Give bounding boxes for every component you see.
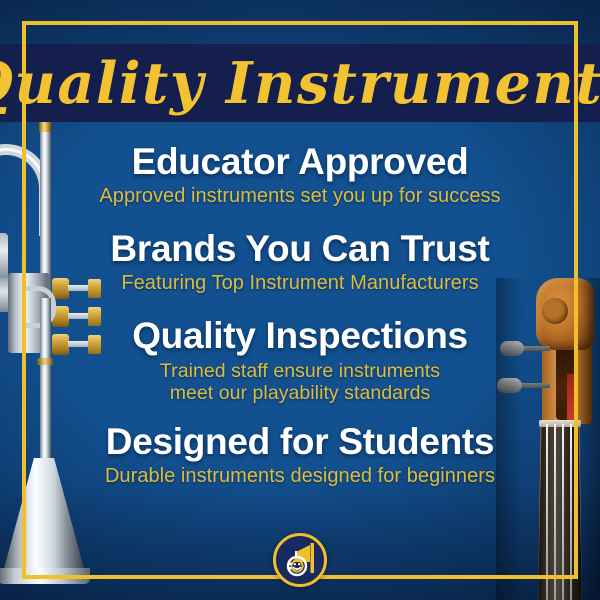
trumpet-bell-rim — [0, 568, 90, 584]
feature-subtitle-line: Trained staff ensure instruments — [0, 360, 600, 383]
page-title: Quality Instruments — [0, 40, 600, 126]
feature-heading: Designed for Students — [0, 423, 600, 461]
brand-logo-badge — [273, 533, 327, 587]
feature-block-brands-you-can-trust: Brands You Can Trust Featuring Top Instr… — [0, 230, 600, 296]
promotional-poster: Quality Instruments Educator Approved Ap… — [0, 0, 600, 600]
feature-subtitle-line: meet our playability standards — [0, 382, 600, 405]
feature-subtitle-line: Durable instruments designed for beginne… — [0, 465, 600, 488]
feature-heading: Brands You Can Trust — [0, 230, 600, 268]
feature-subtitle-line: Featuring Top Instrument Manufacturers — [0, 272, 600, 295]
feature-heading: Educator Approved — [0, 143, 600, 181]
horn-smiley-icon — [280, 540, 320, 580]
feature-subtitle-line: Approved instruments set you up for succ… — [0, 185, 600, 208]
content-blocks: Educator Approved Approved instruments s… — [0, 133, 600, 495]
feature-heading: Quality Inspections — [0, 317, 600, 355]
feature-block-quality-inspections: Quality Inspections Trained staff ensure… — [0, 317, 600, 405]
feature-block-designed-for-students: Designed for Students Durable instrument… — [0, 423, 600, 489]
feature-block-educator-approved: Educator Approved Approved instruments s… — [0, 143, 600, 209]
